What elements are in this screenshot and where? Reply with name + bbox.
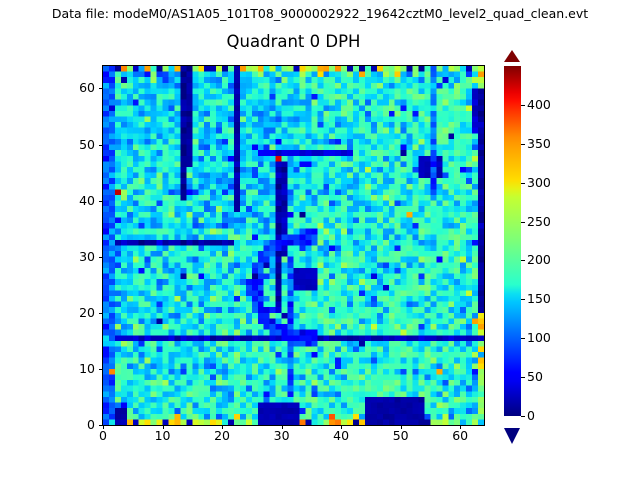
y-tick-label: 60 xyxy=(79,81,95,95)
y-tick-label: 30 xyxy=(79,250,95,264)
x-tick-label: 0 xyxy=(99,429,107,443)
colorbar-gradient xyxy=(504,66,521,416)
colorbar-tick-mark xyxy=(521,377,525,378)
colorbar-tick-label: 350 xyxy=(527,137,551,151)
colorbar-tick-mark xyxy=(521,183,525,184)
colorbar-tick-label: 100 xyxy=(527,331,551,345)
colorbar-tick-label: 150 xyxy=(527,292,551,306)
data-file-suptitle: Data file: modeM0/AS1A05_101T08_90000029… xyxy=(0,7,640,21)
colorbar-tick-mark xyxy=(521,299,525,300)
colorbar-tick-mark xyxy=(521,416,525,417)
colorbar-tick-label: 400 xyxy=(527,98,551,112)
y-tick-mark xyxy=(99,257,103,258)
page-title: Quadrant 0 DPH xyxy=(103,32,484,51)
y-tick-mark xyxy=(99,369,103,370)
x-tick-label: 20 xyxy=(214,429,230,443)
y-tick-mark xyxy=(99,201,103,202)
colorbar-tick-label: 250 xyxy=(527,215,551,229)
colorbar-extend-max-arrow xyxy=(504,50,520,62)
colorbar-tick-mark xyxy=(521,222,525,223)
axes-spine-bottom xyxy=(102,425,485,426)
colorbar-tick-label: 300 xyxy=(527,176,551,190)
x-tick-label: 10 xyxy=(155,429,171,443)
y-tick-label: 50 xyxy=(79,138,95,152)
quadrant-dph-heatmap[interactable] xyxy=(103,66,484,425)
y-tick-mark xyxy=(99,88,103,89)
colorbar-tick-mark xyxy=(521,260,525,261)
x-tick-label: 50 xyxy=(393,429,409,443)
y-tick-mark xyxy=(99,145,103,146)
x-tick-label: 40 xyxy=(333,429,349,443)
x-tick-label: 60 xyxy=(452,429,468,443)
colorbar-tick-label: 0 xyxy=(527,409,535,423)
colorbar-tick-mark xyxy=(521,338,525,339)
colorbar[interactable] xyxy=(504,62,521,428)
y-tick-mark xyxy=(99,425,103,426)
colorbar-tick-mark xyxy=(521,144,525,145)
colorbar-tick-mark xyxy=(521,105,525,106)
y-tick-label: 0 xyxy=(87,418,95,432)
y-tick-label: 40 xyxy=(79,194,95,208)
axes-spine-right xyxy=(484,65,485,426)
axes-spine-left xyxy=(102,65,103,426)
x-tick-label: 30 xyxy=(274,429,290,443)
y-tick-label: 10 xyxy=(79,362,95,376)
y-tick-label: 20 xyxy=(79,306,95,320)
detector-heatmap-axes[interactable] xyxy=(103,66,484,425)
axes-spine-top xyxy=(102,65,485,66)
colorbar-tick-label: 200 xyxy=(527,253,551,267)
colorbar-tick-label: 50 xyxy=(527,370,543,384)
colorbar-bar xyxy=(504,66,521,416)
y-tick-mark xyxy=(99,313,103,314)
figure-canvas: Data file: modeM0/AS1A05_101T08_90000029… xyxy=(0,0,640,480)
colorbar-extend-min-arrow xyxy=(504,428,520,444)
